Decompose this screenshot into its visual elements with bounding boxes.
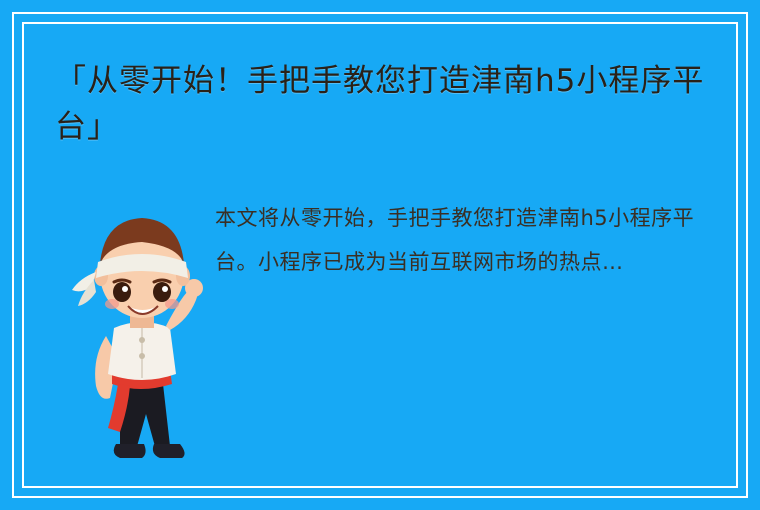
page-title: 「从零开始！手把手教您打造津南h5小程序平台」: [55, 58, 715, 150]
body-text: 本文将从零开始，手把手教您打造津南h5小程序平台。小程序已成为当前互联网市场的热…: [215, 196, 725, 284]
promo-card: 「从零开始！手把手教您打造津南h5小程序平台」 本文将从零开始，手把手教您打造津…: [0, 0, 760, 510]
cartoon-boy-with-headband-mascot: [58, 188, 223, 478]
